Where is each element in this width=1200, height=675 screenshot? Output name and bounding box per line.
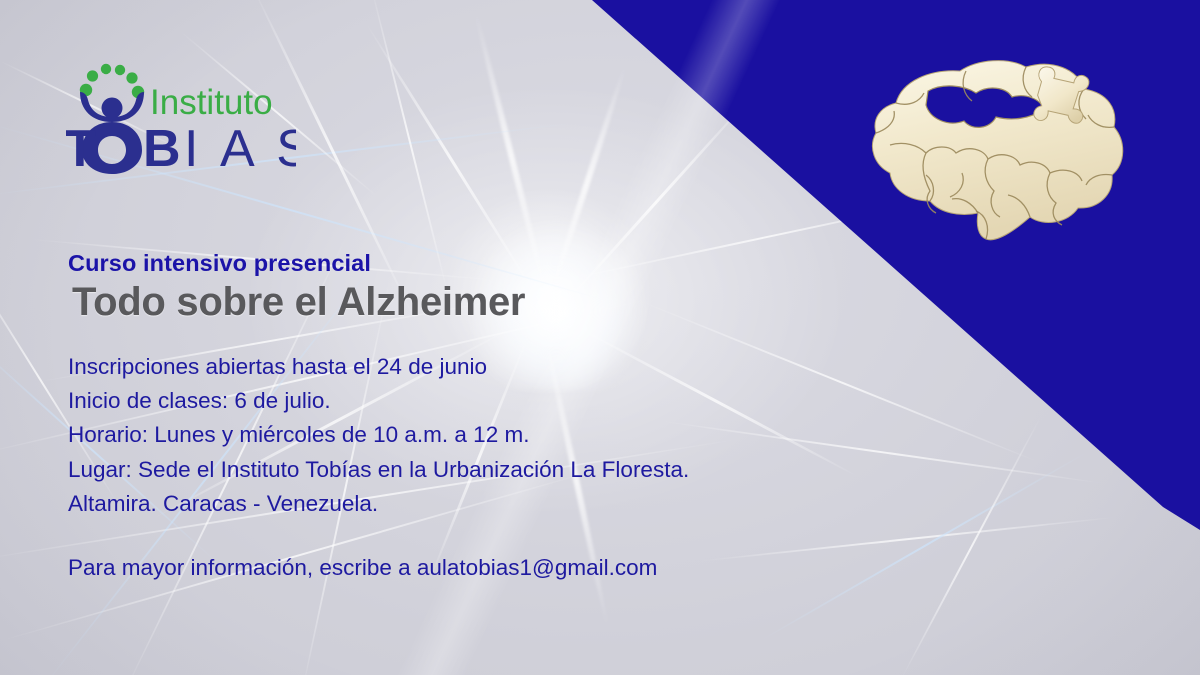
logo-b-text: B bbox=[143, 120, 184, 174]
copy-block: Curso intensivo presencial Todo sobre el… bbox=[68, 250, 828, 606]
logo-tob-text: T bbox=[66, 120, 99, 174]
details-list: Inscripciones abiertas hasta el 24 de ju… bbox=[68, 350, 828, 521]
logo-dots bbox=[80, 64, 144, 98]
list-item: Lugar: Sede el Instituto Tobías en la Ur… bbox=[68, 453, 828, 487]
page-title: Todo sobre el Alzheimer bbox=[72, 280, 828, 324]
list-item: Inicio de clases: 6 de julio. bbox=[68, 384, 828, 418]
poster-canvas: Instituto T B I A S Curso intensivo pres… bbox=[0, 0, 1200, 675]
logo-ias-text: I A S bbox=[184, 120, 296, 174]
puzzle-brain-graphic bbox=[800, 45, 1195, 260]
list-item: Altamira. Caracas - Venezuela. bbox=[68, 487, 828, 521]
list-item: Inscripciones abiertas hasta el 24 de ju… bbox=[68, 350, 828, 384]
institute-logo: Instituto T B I A S bbox=[66, 62, 296, 174]
contact-line: Para mayor información, escribe a aulato… bbox=[68, 552, 828, 584]
kicker-text: Curso intensivo presencial bbox=[68, 250, 828, 277]
list-item: Horario: Lunes y miércoles de 10 a.m. a … bbox=[68, 418, 828, 452]
logo-instituto-text: Instituto bbox=[150, 83, 273, 122]
